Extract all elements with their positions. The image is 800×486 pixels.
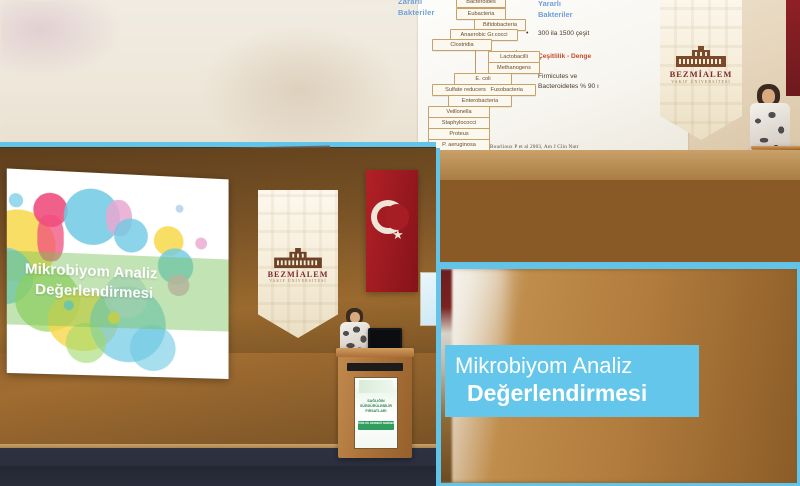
- diagram-box: Clostridia: [432, 39, 492, 51]
- turkish-flag: ★: [366, 170, 418, 292]
- collage-seam-horizontal: [436, 262, 800, 266]
- caption-line-2: Değerlendirmesi: [467, 379, 689, 407]
- banner-logo: BEZMİALEM VAKIF ÜNİVERSİTESİ: [258, 248, 338, 283]
- collage-seam-vertical: [436, 148, 440, 486]
- podium-light-strip: [347, 363, 403, 371]
- podium-bottom[interactable]: SAĞLIĞIN SÜRDÜRÜLEBİLİR FIRSATLARI TÜRK …: [338, 348, 412, 458]
- podium-screen: SAĞLIĞIN SÜRDÜRÜLEBİLİR FIRSATLARI TÜRK …: [354, 377, 397, 449]
- slide-point-2: Çeşitlilik - Denge: [538, 52, 591, 61]
- caption-box: Mikrobiyom Analiz Değerlendirmesi: [445, 345, 699, 417]
- side-monitor: [420, 272, 436, 326]
- slide-bacteria-diagram: Zararlı Bakteriler Yararlı Bakteriler • …: [418, 0, 688, 160]
- banner-logo: BEZMİALEM VAKIF ÜNİVERSİTESİ: [660, 46, 742, 84]
- floor-shadow: [0, 466, 436, 486]
- bullet-marker: •: [526, 30, 528, 37]
- building-icon: [674, 46, 728, 68]
- star-icon: ★: [392, 228, 404, 241]
- slide-heading-harmful: Zararlı Bakteriler: [398, 0, 454, 18]
- slide-title-text: Mikrobiyom Analiz Değerlendirmesi: [25, 259, 211, 306]
- caption-line-1: Mikrobiyom Analiz: [455, 353, 689, 379]
- slide-point-4: Bacteroidetes % 90 ı: [538, 82, 599, 91]
- panel-caption: Mikrobiyom Analiz Değerlendirmesi: [438, 266, 800, 486]
- banner-title: BEZMİALEM: [660, 69, 742, 79]
- slide-microbiome-title: Mikrobiyom Analiz Değerlendirmesi: [7, 168, 229, 379]
- slide-heading-beneficial: Yararlı Bakteriler: [538, 0, 608, 20]
- podium-top-surface: [336, 348, 414, 357]
- banner-title: BEZMİALEM: [258, 270, 338, 279]
- banner-subtitle: VAKIF ÜNİVERSİTESİ: [258, 279, 338, 283]
- slide-point-3: Firmicutes ve: [538, 72, 577, 81]
- bezmialem-banner-top: BEZMİALEM VAKIF ÜNİVERSİTESİ: [660, 0, 742, 140]
- panel-title-slide-photo: Mikrobiyom Analiz Değerlendirmesi: [0, 148, 436, 486]
- curtain-sliver: [786, 0, 800, 96]
- bezmialem-banner-bottom: BEZMİALEM VAKIF ÜNİVERSİTESİ: [258, 190, 338, 338]
- diagram-box: Bacteroides: [456, 0, 506, 8]
- laptop: [368, 328, 402, 350]
- photo-collage: Zararlı Bakteriler Yararlı Bakteriler • …: [0, 0, 800, 486]
- projection-wall-left: [0, 0, 418, 146]
- banner-subtitle: VAKIF ÜNİVERSİTESİ: [660, 79, 742, 84]
- slide-point-1: 300 ila 1500 çeşit: [538, 29, 589, 38]
- podium-screen-footer: TÜRK DİL DERNEĞİ SEMİNER: [357, 422, 395, 425]
- building-icon: [272, 248, 324, 269]
- hall-wainscot: [436, 150, 800, 180]
- podium-screen-heading: SAĞLIĞIN SÜRDÜRÜLEBİLİR FIRSATLARI: [357, 399, 395, 414]
